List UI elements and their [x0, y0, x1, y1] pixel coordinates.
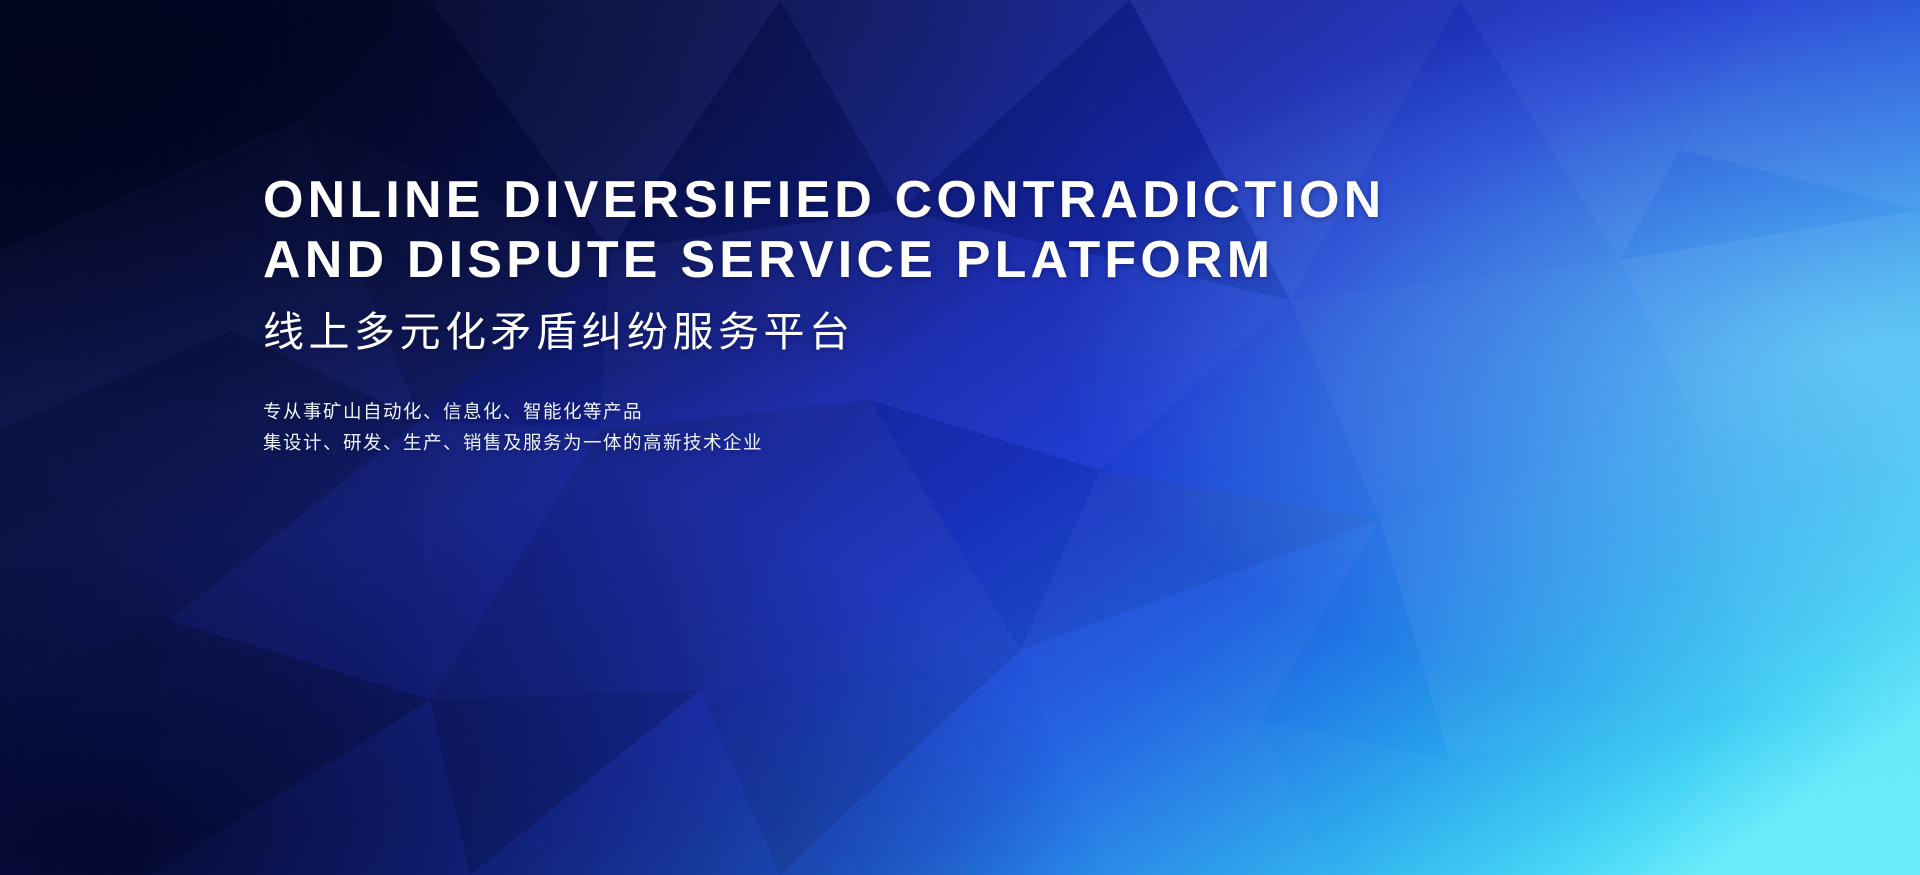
hero-content: ONLINE DIVERSIFIED CONTRADICTION AND DIS… [263, 172, 1583, 458]
hero-banner: ONLINE DIVERSIFIED CONTRADICTION AND DIS… [0, 0, 1920, 875]
hero-title-en-line2: AND DISPUTE SERVICE PLATFORM [263, 232, 1583, 288]
hero-title-en-line1: ONLINE DIVERSIFIED CONTRADICTION [263, 172, 1583, 228]
hero-description: 专从事矿山自动化、信息化、智能化等产品 集设计、研发、生产、销售及服务为一体的高… [263, 396, 1583, 458]
hero-description-line-1: 专从事矿山自动化、信息化、智能化等产品 [263, 396, 1583, 427]
hero-description-line-2: 集设计、研发、生产、销售及服务为一体的高新技术企业 [263, 427, 1583, 458]
hero-subtitle-cn: 线上多元化矛盾纠纷服务平台 [263, 308, 1583, 356]
